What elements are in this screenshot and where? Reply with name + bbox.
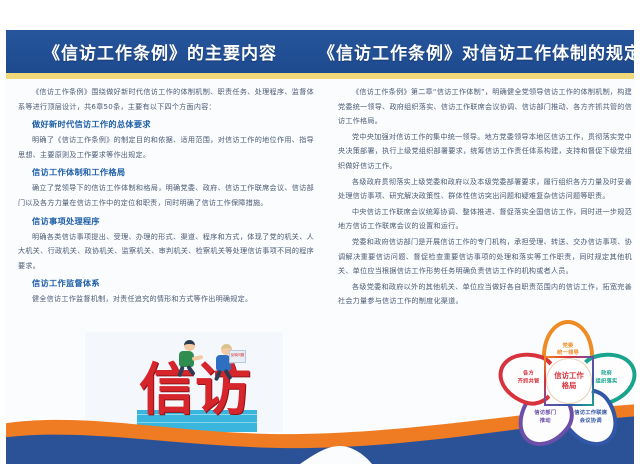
left-panel-title: 《信访工作条例》的主要内容 xyxy=(0,30,320,73)
left-margin xyxy=(0,0,6,464)
paragraph: 确立了党领导下的信访工作体制和格局，明确党委、政府、信访工作联席会议、信访部门以… xyxy=(18,181,314,210)
paragraph: 党委和政府信访部门是开展信访工作的专门机构，承担受理、转送、交办信访事项、协调解… xyxy=(338,235,632,279)
center-label-line2: 格局 xyxy=(562,381,577,391)
diagram-center-label: 信访工作 格局 xyxy=(544,356,594,406)
petal-label-line1: 各方 xyxy=(511,371,545,379)
section-subheading: 信访事项处理程序 xyxy=(18,214,314,229)
petal-label-line2: 组织落实 xyxy=(590,378,624,386)
complaint-letter-banner: 反映问题 xyxy=(229,350,246,363)
poster-page: 《信访工作条例》的主要内容 《信访工作条例》对信访工作体制的规定 《信访工作条例… xyxy=(0,0,640,464)
section-subheading: 信访工作体制和工作格局 xyxy=(18,165,314,180)
petal-label-line2: 齐抓共管 xyxy=(511,378,545,386)
petal-label-line2: 推动 xyxy=(528,418,562,426)
paragraph: 《信访工作条例》围绕做好新时代信访工作的体制机制、职责任务、处理程序、监督体系等… xyxy=(18,85,314,114)
runner-head xyxy=(184,340,195,351)
right-column: 《信访工作条例》第二章“信访工作体制”，明确健全党领导信访工作的体制机制，构建党… xyxy=(338,85,632,310)
paragraph: 各级党委和政府以外的其他机关、单位应当做好各自职责范围内的信访工作，拓宽完善社会… xyxy=(338,280,632,309)
top-white-margin xyxy=(0,0,640,30)
section-subheading: 做好新时代信访工作的总体要求 xyxy=(18,117,314,132)
paragraph: 健全信访工作监督机制，对责任追究的情形和方式等作出明确规定。 xyxy=(18,292,314,307)
right-panel-title: 《信访工作条例》对信访工作体制的规定 xyxy=(320,30,640,73)
paragraph: 党中央加强对信访工作的集中统一领导。地方党委领导本地区信访工作，贯彻落实党中央决… xyxy=(338,130,632,174)
paragraph: 各级政府贯彻落实上级党委和政府以及本级党委部署要求，履行组织各方力量及时妥善处理… xyxy=(338,175,632,204)
paragraph: 明确了《信访工作条例》的制定目的和依据、适用范围，对信访工作的地位作用、指导思想… xyxy=(18,133,314,162)
header-gold-stripe xyxy=(0,73,640,79)
section-subheading: 信访工作监督体系 xyxy=(18,276,314,291)
petal-label-line1: 政府 xyxy=(590,371,624,379)
paragraph: 明确各类信访事项提出、受理、办理的形式、渠道、程序和方式，体现了党的机关、人大机… xyxy=(18,230,314,274)
petal-label-line1: 党委 xyxy=(551,343,585,351)
left-column: 《信访工作条例》围绕做好新时代信访工作的体制机制、职责任务、处理程序、监督体系等… xyxy=(18,85,314,307)
paragraph: 中央信访工作联席会议统筹协调、整体推进、督促落实全国信访工作，同时进一步规范地方… xyxy=(338,205,632,234)
paragraph: 《信访工作条例》第二章“信访工作体制”，明确健全党领导信访工作的体制机制，构建党… xyxy=(338,85,632,129)
petal-label-line1: 信访工作联席 xyxy=(573,411,609,419)
petal-label-line2: 会议协调 xyxy=(573,418,609,426)
right-margin xyxy=(634,0,640,464)
center-label-line1: 信访工作 xyxy=(554,371,584,381)
